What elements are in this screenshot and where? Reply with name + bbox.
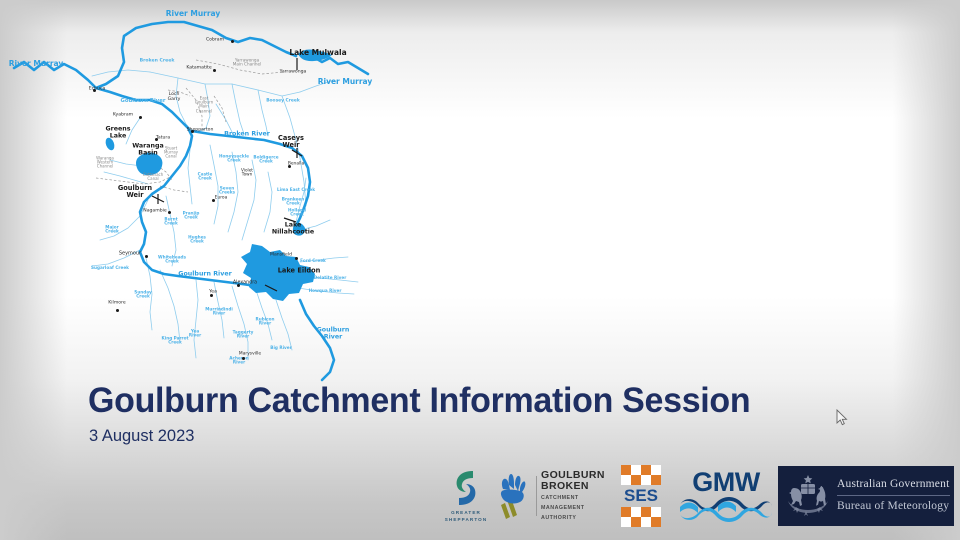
gbcma-wordmark: GOULBURN BROKEN CATCHMENT MANAGEMENT AUT…	[541, 470, 605, 523]
ses-checker-top-icon	[621, 465, 661, 485]
map-town-dot	[295, 257, 298, 260]
map-town-dot	[145, 255, 148, 258]
gs-line1: GREATER	[445, 510, 487, 517]
map-town-dot	[210, 294, 213, 297]
minor-waterways	[92, 70, 358, 360]
map-town-dot	[213, 69, 216, 72]
bom-line2: Bureau of Meteorology	[837, 499, 950, 515]
map-town-dot	[231, 40, 234, 43]
logo-greater-shepparton: GREATER SHEPPARTON	[438, 459, 494, 533]
title-block: Goulburn Catchment Information Session 3…	[88, 383, 771, 446]
logo-goulburn-broken-cma: GOULBURN BROKEN CATCHMENT MANAGEMENT AUT…	[494, 459, 608, 533]
logo-gmw: GMW	[674, 459, 778, 533]
map-town-dot	[212, 199, 215, 202]
gs-line2: SHEPPARTON	[445, 517, 487, 524]
gbcma-divider	[536, 476, 537, 516]
gb-line3: CATCHMENT	[541, 495, 605, 503]
greater-shepparton-mark-icon	[449, 468, 483, 508]
page-subtitle-date: 3 August 2023	[89, 426, 750, 446]
mouse-cursor-icon	[836, 409, 848, 426]
map-town-dot	[139, 116, 142, 119]
presentation-slide: River MurrayRiver MurrayRiver MurrayLake…	[0, 0, 960, 540]
map-town-dot	[237, 284, 240, 287]
sponsor-logo-bar: GREATER SHEPPARTON GOULBURN BROKEN	[438, 459, 954, 533]
ses-wordmark: SES	[621, 485, 661, 506]
page-title: Goulburn Catchment Information Session	[88, 383, 750, 420]
gmw-wordmark: GMW	[692, 469, 759, 496]
logo-ses: SES	[608, 459, 674, 533]
australian-coat-of-arms-icon	[782, 473, 834, 519]
catchment-map-graphic	[0, 0, 420, 390]
bom-divider	[837, 495, 950, 496]
gbcma-hand-icon	[494, 471, 532, 521]
lakes-and-storages	[104, 50, 332, 302]
gb-line2: BROKEN	[541, 481, 605, 493]
gmw-wave-icon	[678, 497, 774, 523]
bom-wordmark: Australian Government Bureau of Meteorol…	[837, 477, 950, 514]
map-town-dot	[242, 357, 245, 360]
map-town-dot	[93, 89, 96, 92]
map-town-dot	[155, 138, 158, 141]
logo-bureau-of-meteorology: Australian Government Bureau of Meteorol…	[778, 466, 954, 526]
map-town-dot	[191, 130, 194, 133]
ses-checker-bottom-icon	[621, 507, 661, 527]
map-town-dot	[168, 211, 171, 214]
major-waterways	[14, 22, 368, 380]
gb-line4: MANAGEMENT	[541, 505, 605, 513]
gb-line5: AUTHORITY	[541, 515, 605, 523]
greater-shepparton-wordmark: GREATER SHEPPARTON	[445, 510, 487, 523]
catchment-map: River MurrayRiver MurrayRiver MurrayLake…	[0, 0, 420, 390]
map-town-dot	[288, 165, 291, 168]
irrigation-channels	[96, 60, 284, 192]
bom-line1: Australian Government	[837, 477, 950, 493]
map-town-dot	[116, 309, 119, 312]
